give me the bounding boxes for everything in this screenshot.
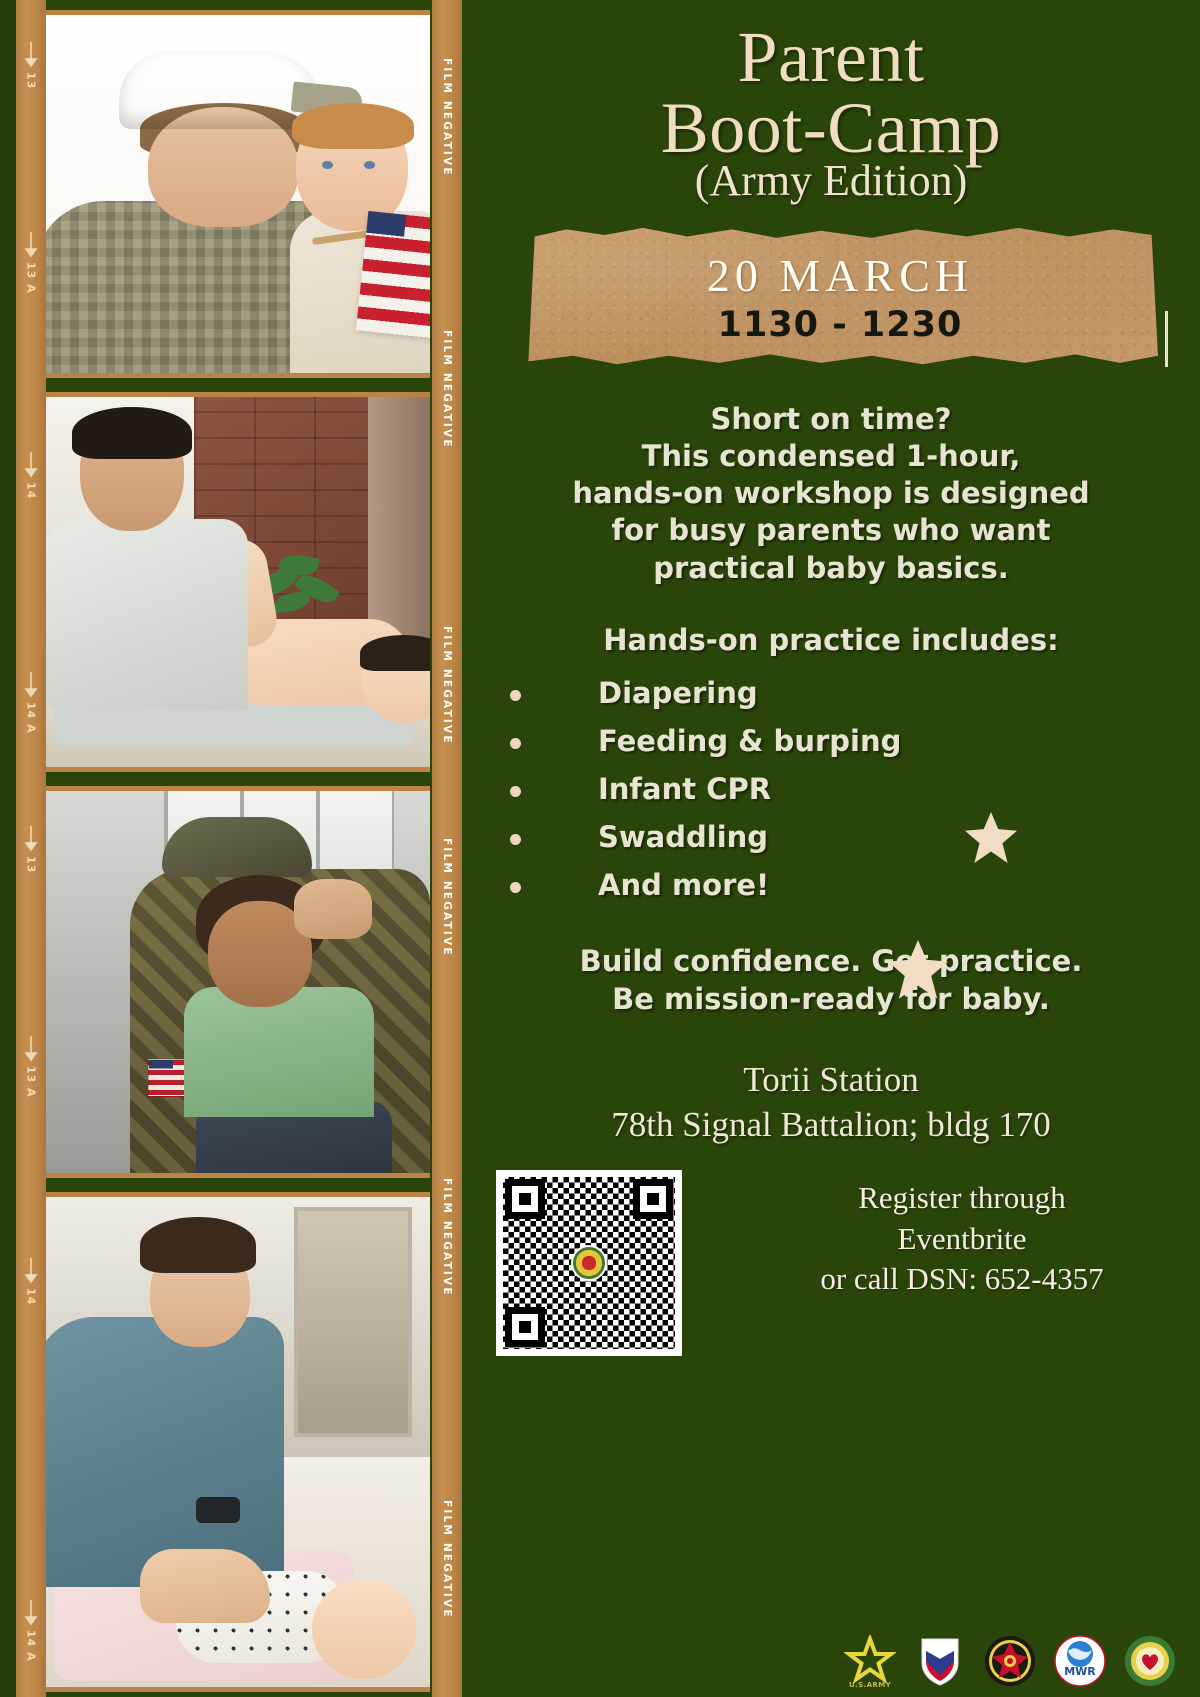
us-army-star-logo: U.S.ARMY (844, 1635, 896, 1687)
photo4-newborn-head (312, 1579, 416, 1679)
down-arrow-icon (25, 452, 38, 478)
list-item: Feeding & burping (486, 717, 1176, 765)
intro-line-5: practical baby basics. (492, 550, 1170, 587)
intro-paragraph: Short on time? This condensed 1-hour, ha… (486, 401, 1176, 587)
location-line-2: 78th Signal Battalion; bldg 170 (486, 1102, 1176, 1148)
photo4-father-hair (140, 1217, 256, 1273)
tagline-line-1: Build confidence. Get practice. (486, 943, 1176, 981)
down-arrow-icon (25, 672, 38, 698)
title-line-1: Parent (738, 17, 925, 97)
registration-line-2: Eventbrite (752, 1219, 1172, 1260)
practice-heading: Hands-on practice includes: (486, 623, 1176, 657)
photo2-leaf (273, 591, 311, 614)
photo4-doorway (294, 1207, 412, 1437)
photo-soldier-comforting-crying-child (44, 786, 430, 1178)
down-arrow-icon (25, 1600, 38, 1626)
photo2-father-shirt (44, 519, 248, 709)
page-subtitle: (Army Edition) (486, 159, 1176, 203)
list-item: Diapering (486, 669, 1176, 717)
list-item: And more! (486, 861, 1176, 909)
location-block: Torii Station 78th Signal Battalion; bld… (486, 1057, 1176, 1148)
photo1-toddler-hair (292, 103, 414, 149)
frame-number: 13 A (25, 262, 38, 294)
location-line-1: Torii Station (486, 1057, 1176, 1103)
banner-tick-mark (1165, 311, 1168, 367)
qr-finder-icon (505, 1179, 545, 1219)
garrison-crest-logo (984, 1635, 1036, 1687)
list-item: Swaddling (486, 813, 1176, 861)
photo-father-changing-baby-diaper (44, 392, 430, 772)
intro-line-3: hands-on workshop is designed (492, 475, 1170, 512)
svg-text:MWR: MWR (1064, 1665, 1096, 1678)
photo4-wristwatch (196, 1497, 240, 1523)
photo3-patrol-cap (162, 817, 312, 877)
qr-code[interactable] (496, 1170, 682, 1356)
registration-line-3: or call DSN: 652-4357 (752, 1259, 1172, 1300)
practice-list: Diapering Feeding & burping Infant CPR S… (486, 669, 1176, 910)
down-arrow-icon (25, 42, 38, 68)
tagline-line-2: Be mission-ready for baby. (486, 981, 1176, 1019)
army-mwr-logo: MWR (1054, 1635, 1106, 1687)
down-arrow-icon (25, 826, 38, 852)
intro-line-4: for busy parents who want (492, 512, 1170, 549)
amc-shield-logo (914, 1635, 966, 1687)
frame-number: 14 A (25, 1630, 38, 1662)
photo-soldier-holding-toddler-with-flag (44, 10, 430, 378)
event-time: 1130 - 1230 (522, 305, 1158, 345)
filmstrip-rail-left: 13 13 A 14 14 A 13 (16, 0, 46, 1697)
film-negative-label: FILM NEGATIVE (441, 1500, 453, 1619)
frame-number: 14 (25, 482, 38, 499)
frame-number: 13 A (25, 1066, 38, 1098)
photo2-father-hair (72, 407, 192, 459)
photo1-toddler-eye-left (322, 161, 333, 169)
frame-number: 14 (25, 1288, 38, 1305)
filmstrip-rail-right-marks: FILM NEGATIVE FILM NEGATIVE FILM NEGATIV… (432, 0, 462, 1697)
film-negative-label: FILM NEGATIVE (441, 626, 453, 745)
down-arrow-icon (25, 232, 38, 258)
photo-father-dressing-newborn-on-bed (44, 1192, 430, 1692)
photo4-father-shirt (44, 1317, 284, 1587)
list-item: Infant CPR (486, 765, 1176, 813)
registration-line-1: Register through (752, 1178, 1172, 1219)
film-negative-label: FILM NEGATIVE (441, 58, 453, 177)
qr-finder-icon (505, 1307, 545, 1347)
filmstrip-rail-left-marks: 13 13 A 14 14 A 13 (16, 0, 46, 1697)
acs-logo-icon (571, 1245, 607, 1281)
film-negative-label: FILM NEGATIVE (441, 1178, 453, 1297)
qr-finder-icon (633, 1179, 673, 1219)
film-negative-label: FILM NEGATIVE (441, 330, 453, 449)
frame-number: 14 A (25, 702, 38, 734)
film-negative-label: FILM NEGATIVE (441, 838, 453, 957)
filmstrip-frames (40, 0, 434, 1697)
intro-line-1: Short on time? (492, 401, 1170, 438)
tagline: Build confidence. Get practice. Be missi… (486, 943, 1176, 1018)
photo3-soldier-hand (294, 879, 372, 939)
photo1-patrol-cap (119, 51, 324, 129)
intro-line-2: This condensed 1-hour, (492, 438, 1170, 475)
filmstrip-green-edge (0, 0, 16, 1697)
logo-strip: U.S.ARMY (844, 1635, 1176, 1687)
filmstrip-rail-right: FILM NEGATIVE FILM NEGATIVE FILM NEGATIV… (432, 0, 462, 1697)
date-banner: 20 MARCH 1130 - 1230 (522, 225, 1158, 367)
photo2-baby-hair (360, 635, 430, 671)
content-column: Parent Boot-Camp (Army Edition) 20 MARCH… (462, 0, 1200, 1697)
registration-row: Register through Eventbrite or call DSN:… (486, 1170, 1176, 1380)
down-arrow-icon (25, 1036, 38, 1062)
photo2-curtain (368, 397, 430, 657)
photo1-us-flag (356, 211, 430, 339)
registration-text: Register through Eventbrite or call DSN:… (752, 1178, 1172, 1301)
qr-code-pattern (503, 1177, 675, 1349)
filmstrip-column: 13 13 A 14 14 A 13 (0, 0, 462, 1697)
event-date: 20 MARCH (522, 249, 1158, 302)
photo3-child-shirt (184, 987, 374, 1117)
frame-number: 13 (25, 72, 38, 89)
us-army-caption: U.S.ARMY (849, 1681, 891, 1689)
down-arrow-icon (25, 1258, 38, 1284)
photo4-father-hands (140, 1549, 270, 1623)
title-line-2: Boot-Camp (486, 93, 1176, 164)
frame-number: 13 (25, 856, 38, 873)
army-community-service-logo (1124, 1635, 1176, 1687)
page-title: Parent Boot-Camp (486, 22, 1176, 163)
photo1-toddler-eye-right (364, 161, 375, 169)
poster-canvas: 13 13 A 14 14 A 13 (0, 0, 1200, 1697)
